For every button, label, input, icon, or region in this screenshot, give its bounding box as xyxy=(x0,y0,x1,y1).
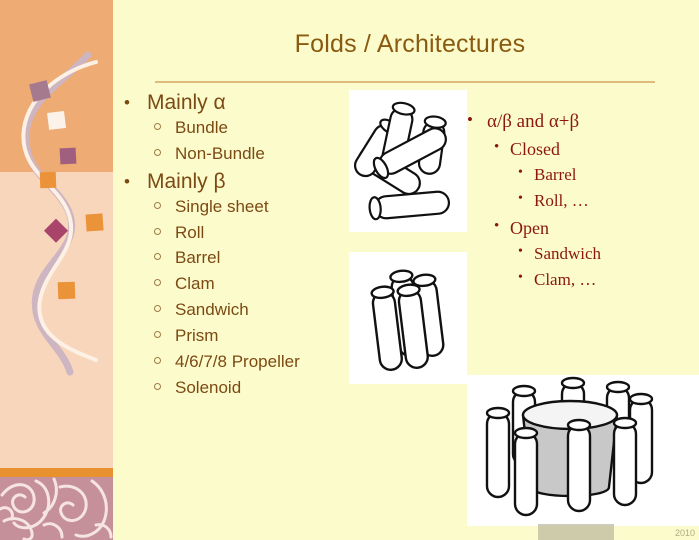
list-item-label: Roll xyxy=(175,223,204,242)
bullet-dot-icon: • xyxy=(467,111,473,129)
list-item-label: Barrel xyxy=(175,248,220,267)
band-divider-rule xyxy=(0,468,113,477)
list-item: • Open xyxy=(462,219,697,238)
bullet-circle-icon xyxy=(154,305,161,312)
list-item: • Roll, … xyxy=(462,192,697,210)
list-item: • Sandwich xyxy=(462,245,697,263)
footer-credit: 2010 xyxy=(675,528,695,538)
bullet-circle-icon xyxy=(154,149,161,156)
list-item-label: Single sheet xyxy=(175,197,269,216)
bullet-circle-icon xyxy=(154,357,161,364)
tim-barrel-diagram xyxy=(467,375,699,526)
bullet-dot-icon: • xyxy=(518,191,523,206)
right-outline-list: • α/β and α+β • Closed • Barrel • Roll, … xyxy=(462,112,697,298)
list-item-label: Closed xyxy=(510,139,560,159)
bullet-dot-icon: • xyxy=(494,139,499,155)
slide: Folds / Architectures • Mainly α Bundle … xyxy=(0,0,699,540)
bullet-dot-icon: • xyxy=(124,172,130,192)
bullet-dot-icon: • xyxy=(124,93,130,113)
band-swirl-pattern xyxy=(0,477,113,540)
list-item-label: Prism xyxy=(175,326,218,345)
list-item: • Mainly β xyxy=(113,171,353,193)
list-item: • Clam, … xyxy=(462,271,697,289)
ribbon-squares xyxy=(29,80,104,299)
figure-helix-bundle xyxy=(349,252,467,384)
list-item-label: Sandwich xyxy=(534,244,601,263)
list-item: • α/β and α+β xyxy=(462,112,697,133)
list-item: • Closed xyxy=(462,140,697,159)
bullet-circle-icon xyxy=(154,202,161,209)
list-item: Barrel xyxy=(113,249,353,267)
list-item-label: α/β and α+β xyxy=(487,111,579,132)
left-outline-list: • Mainly α Bundle Non-Bundle • Mainly β … xyxy=(113,92,353,405)
swirl-graphic xyxy=(0,477,113,540)
list-item-label: Roll, … xyxy=(534,191,589,210)
list-item-label: Barrel xyxy=(534,165,576,184)
list-item: • Barrel xyxy=(462,166,697,184)
list-item: Clam xyxy=(113,275,353,293)
list-item-label: Non-Bundle xyxy=(175,144,265,163)
bullet-dot-icon: • xyxy=(518,165,523,180)
figure-tim-barrel xyxy=(467,375,699,526)
list-item: Single sheet xyxy=(113,198,353,216)
list-item: 4/6/7/8 Propeller xyxy=(113,353,353,371)
ribbon-graphic xyxy=(0,0,113,468)
bullet-circle-icon xyxy=(154,383,161,390)
list-item: Solenoid xyxy=(113,379,353,397)
list-item-label: Open xyxy=(510,218,549,238)
bullet-circle-icon xyxy=(154,253,161,260)
bullet-dot-icon: • xyxy=(518,244,523,259)
list-item: Non-Bundle xyxy=(113,145,353,163)
figure-non-bundle-helices xyxy=(349,90,467,232)
bullet-circle-icon xyxy=(154,228,161,235)
list-item-label: Mainly β xyxy=(147,170,226,193)
helix-bundle-diagram xyxy=(349,252,467,384)
bullet-circle-icon xyxy=(154,123,161,130)
list-item: Prism xyxy=(113,327,353,345)
list-item: • Mainly α xyxy=(113,92,353,114)
bullet-circle-icon xyxy=(154,279,161,286)
list-item: Roll xyxy=(113,224,353,242)
list-item-label: Bundle xyxy=(175,118,228,137)
list-item-label: Clam xyxy=(175,274,215,293)
list-item-label: Solenoid xyxy=(175,378,241,397)
slide-title: Folds / Architectures xyxy=(150,30,670,59)
list-item-label: Mainly α xyxy=(147,91,226,114)
list-item-label: 4/6/7/8 Propeller xyxy=(175,352,300,371)
bullet-circle-icon xyxy=(154,331,161,338)
list-item: Sandwich xyxy=(113,301,353,319)
list-item: Bundle xyxy=(113,119,353,137)
list-item-label: Sandwich xyxy=(175,300,249,319)
bullet-dot-icon: • xyxy=(494,218,499,234)
list-item-label: Clam, … xyxy=(534,270,596,289)
license-badge xyxy=(538,524,614,540)
decorative-side-band xyxy=(0,0,113,540)
title-underline-rule xyxy=(155,81,655,83)
non-bundle-helices-diagram xyxy=(349,90,467,232)
bullet-dot-icon: • xyxy=(518,270,523,285)
